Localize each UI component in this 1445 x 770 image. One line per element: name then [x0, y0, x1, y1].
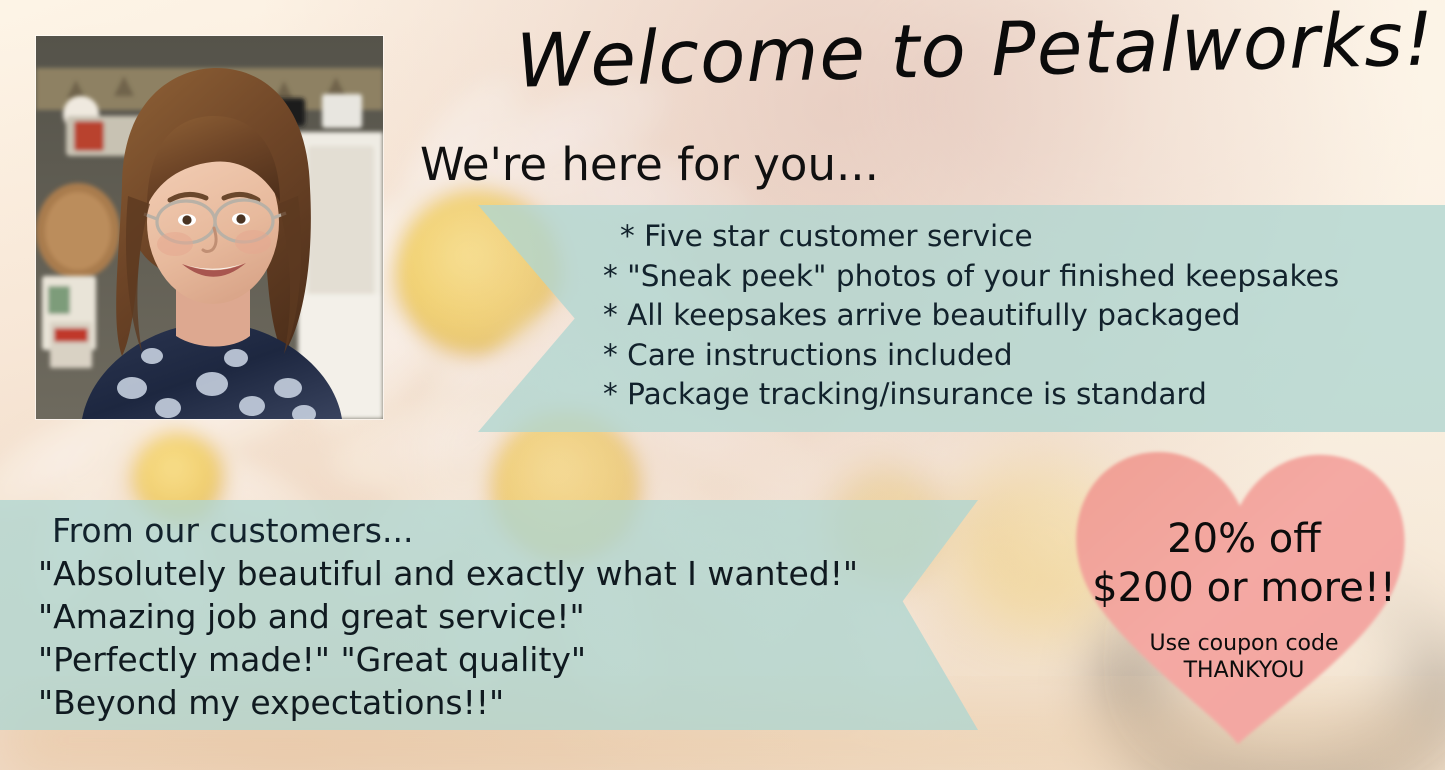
list-item: "Beyond my expectations!!" [38, 681, 858, 724]
coupon-threshold: $200 or more!! [1080, 564, 1408, 613]
owner-portrait [36, 36, 383, 419]
coupon-instruction: Use coupon code [1080, 630, 1408, 657]
list-item: "Absolutely beautiful and exactly what I… [38, 552, 858, 595]
testimonials-list: "Absolutely beautiful and exactly what I… [38, 552, 858, 724]
list-item: * Care instructions included [603, 336, 1339, 376]
page-title: Welcome to Petalworks! [515, 4, 1317, 100]
list-item: * All keepsakes arrive beautifully packa… [603, 296, 1339, 336]
subtitle: We're here for you... [420, 140, 879, 190]
service-list: * Five star customer service * "Sneak pe… [603, 217, 1339, 415]
coupon-text-block: 20% off $200 or more!! Use coupon code T… [1080, 515, 1408, 684]
list-item: * Package tracking/insurance is standard [603, 375, 1339, 415]
coupon-code: THANKYOU [1080, 657, 1408, 684]
list-item: "Amazing job and great service!" [38, 595, 858, 638]
testimonials-heading: From our customers... [38, 510, 858, 552]
list-item: * "Sneak peek" photos of your finished k… [603, 257, 1339, 297]
list-item: "Perfectly made!" "Great quality" [38, 638, 858, 681]
testimonials-block: From our customers... "Absolutely beauti… [38, 510, 858, 724]
promo-banner: Welcome to Petalworks! We're here for yo… [0, 0, 1445, 770]
coupon-discount: 20% off [1080, 515, 1408, 564]
list-item: * Five star customer service [603, 217, 1339, 257]
